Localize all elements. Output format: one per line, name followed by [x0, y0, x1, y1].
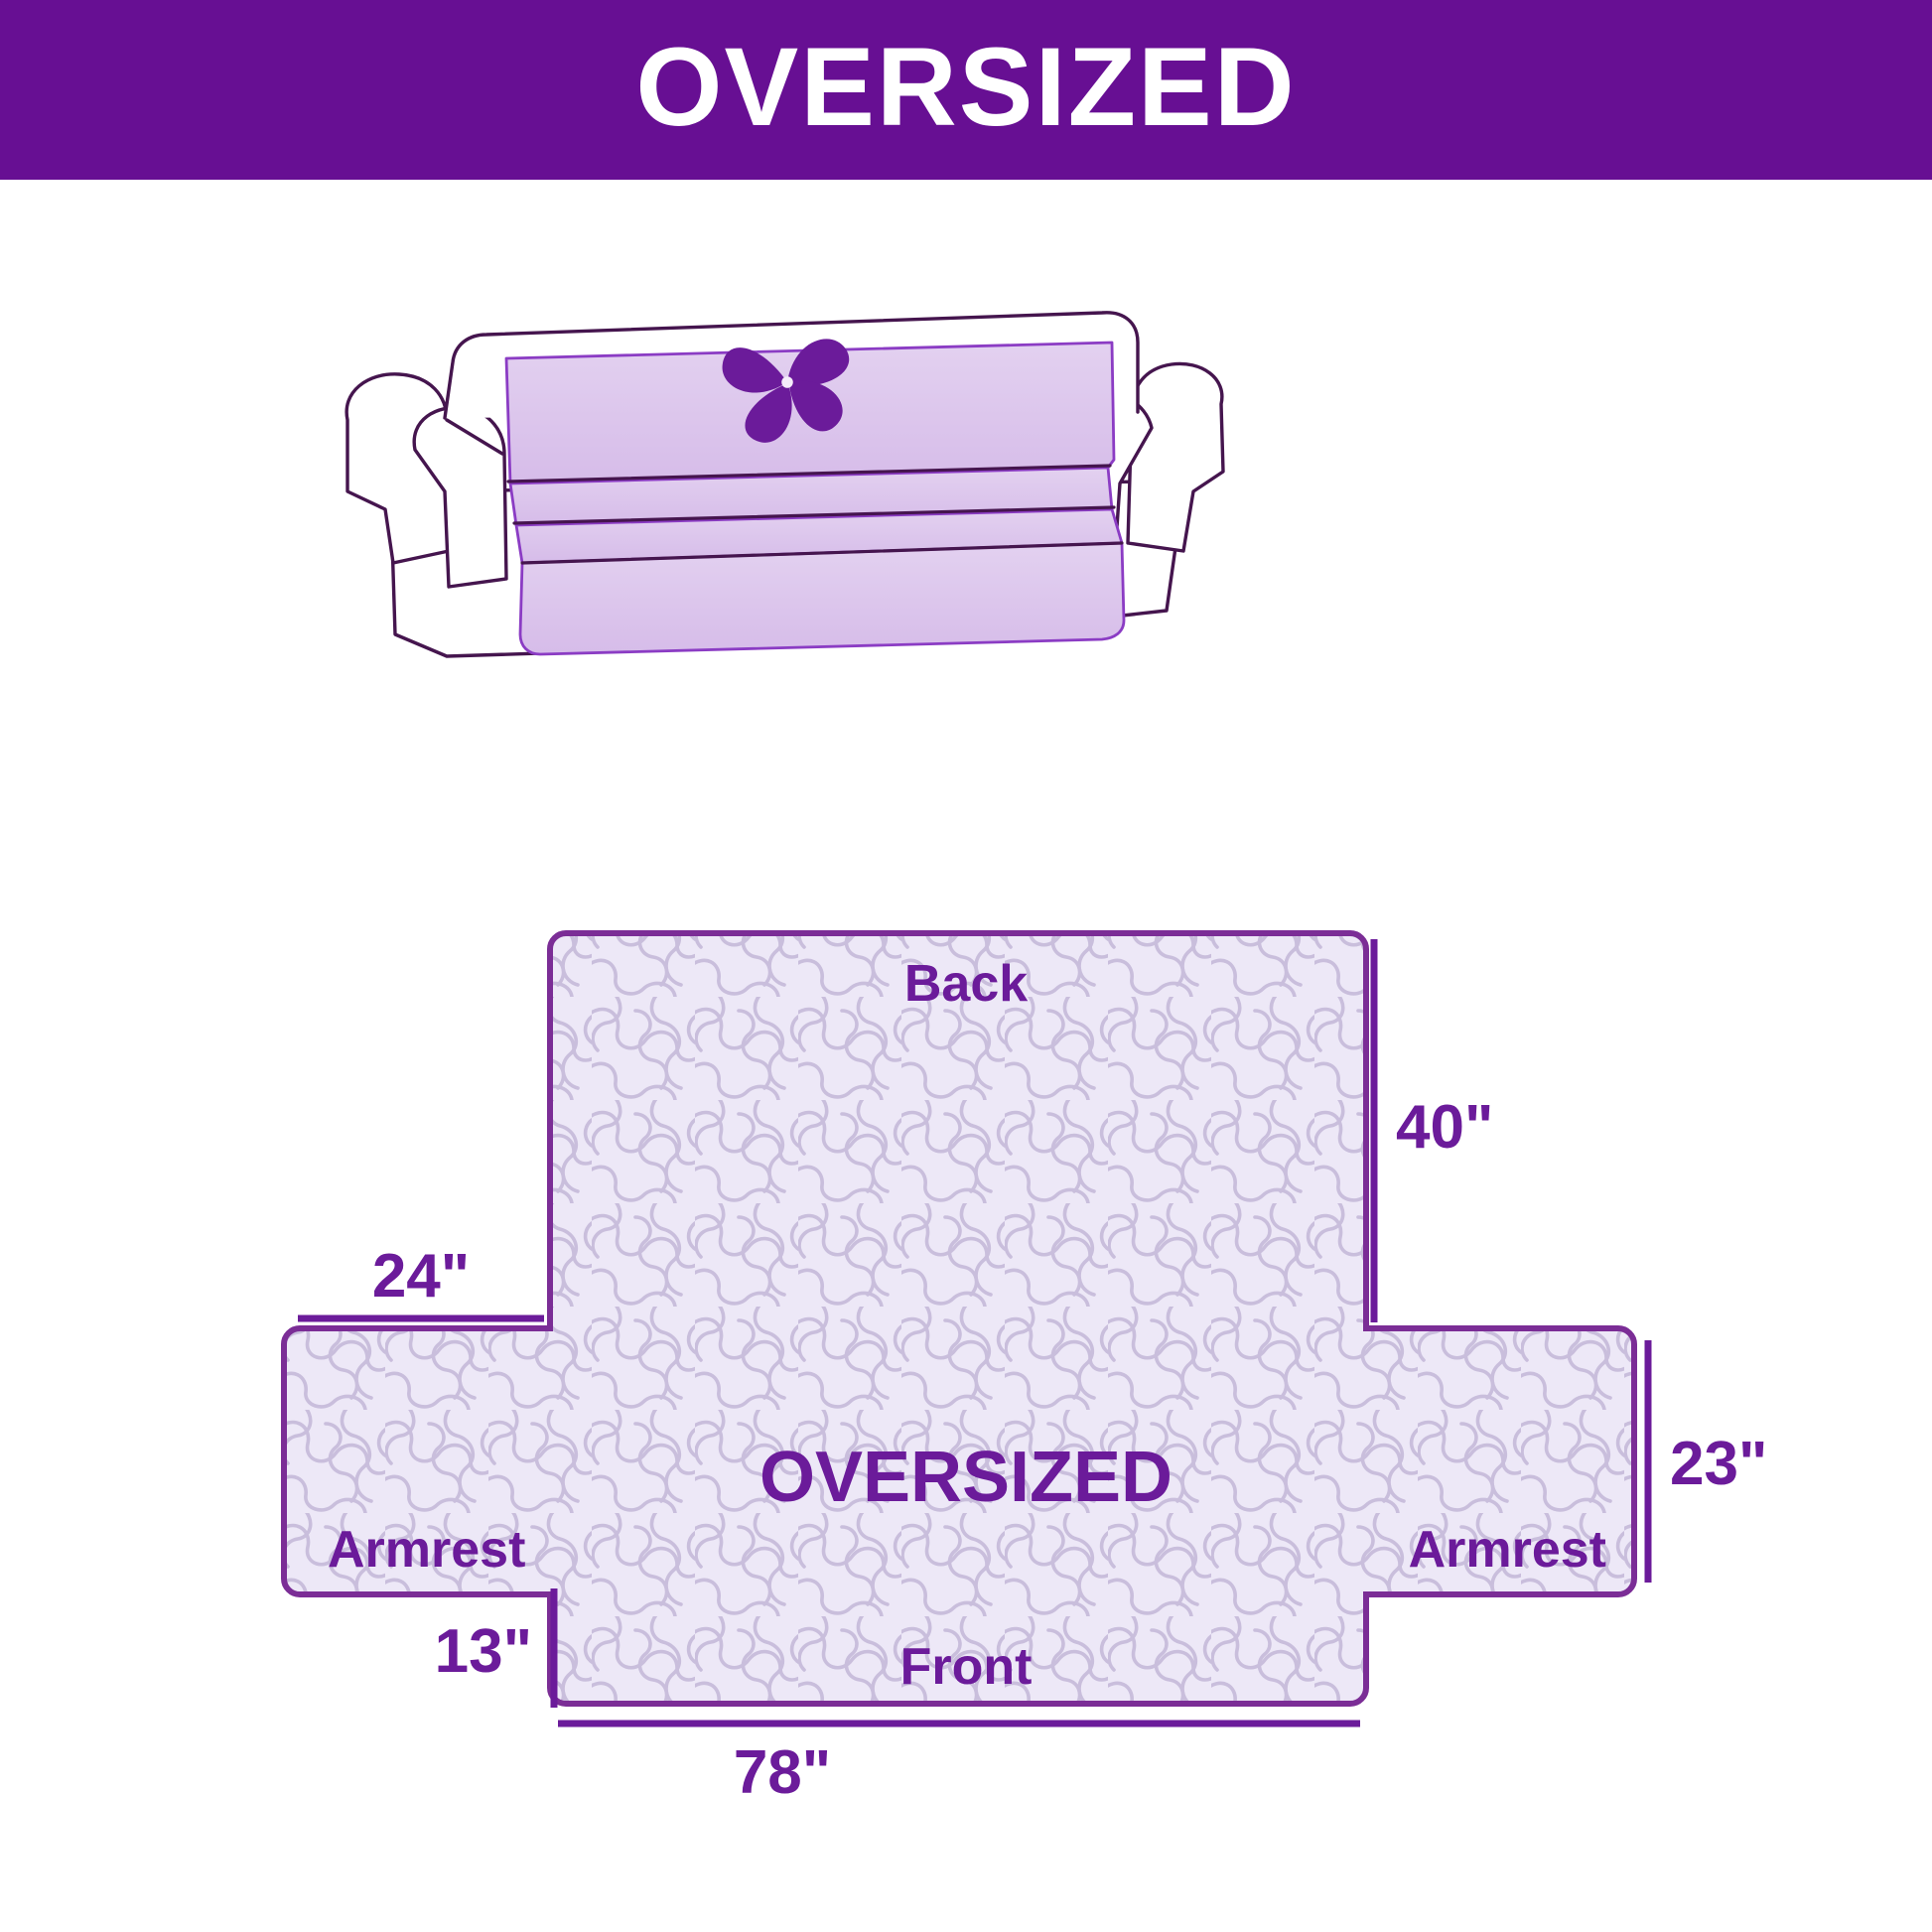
header-banner: OVERSIZED	[0, 0, 1932, 180]
dimension-label-24: 24"	[372, 1242, 470, 1311]
label-armrest-left: Armrest	[328, 1521, 525, 1579]
slipcover-flat-diagram: Back OVERSIZED Armrest Armrest Front 40"…	[179, 894, 1866, 1807]
label-oversized: OVERSIZED	[759, 1438, 1173, 1517]
dimension-label-40: 40"	[1396, 1093, 1493, 1162]
dimension-label-78: 78"	[734, 1738, 831, 1807]
sofa-illustration	[328, 194, 1281, 670]
page-title: OVERSIZED	[635, 32, 1296, 143]
label-back: Back	[904, 955, 1028, 1013]
label-armrest-right: Armrest	[1409, 1521, 1606, 1579]
dimension-label-13: 13"	[435, 1617, 532, 1686]
label-front: Front	[900, 1638, 1033, 1696]
dimension-label-23: 23"	[1670, 1430, 1767, 1498]
